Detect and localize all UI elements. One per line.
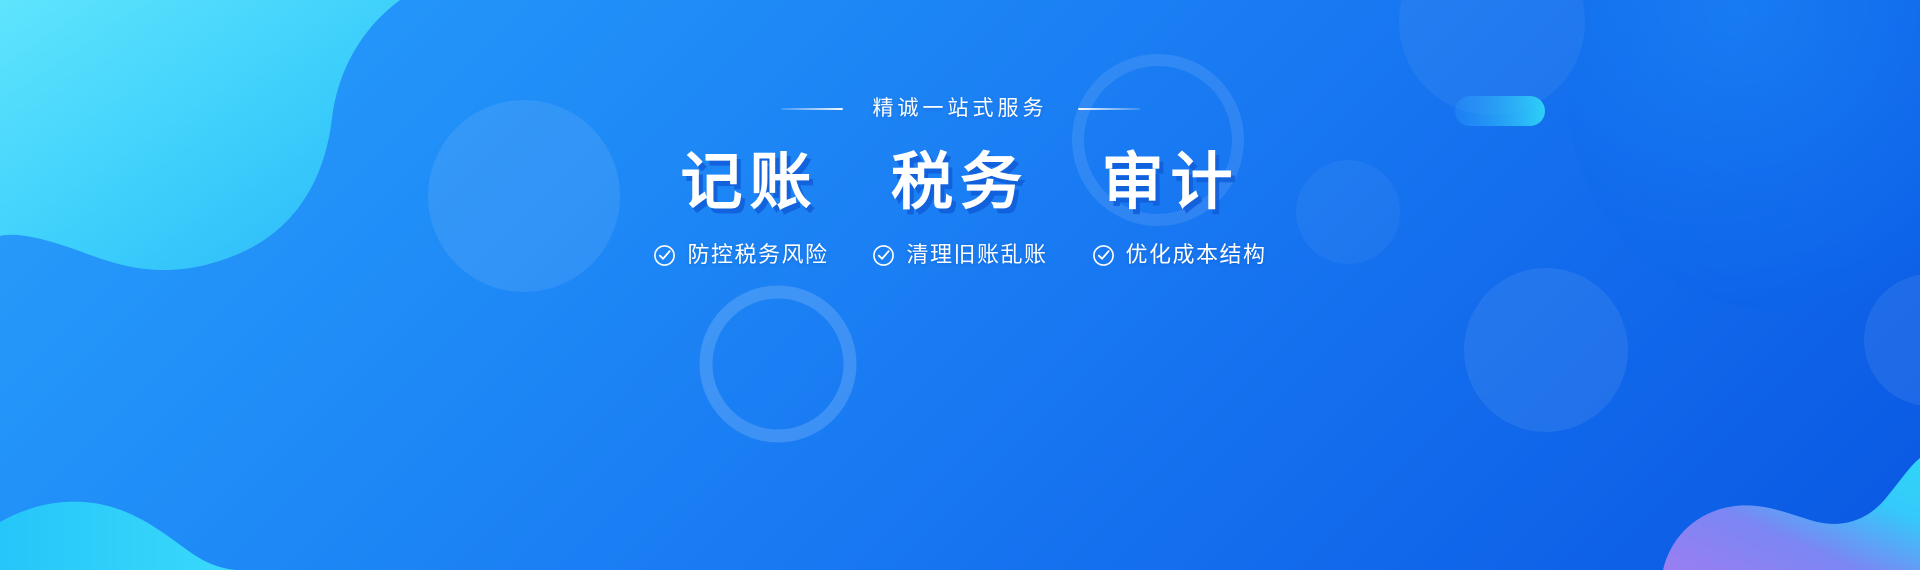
tagline-dash-left (781, 108, 843, 110)
tagline-dash-right (1078, 108, 1140, 110)
feature-label-3: 优化成本结构 (1126, 242, 1267, 268)
feature-label-2: 清理旧账乱账 (906, 242, 1047, 268)
check-circle-icon (653, 244, 676, 267)
headline-word-1: 记账 (681, 148, 819, 217)
feature-label-1: 防控税务风险 (687, 242, 828, 268)
feature-list: 防控税务风险 清理旧账乱账 优化成本结构 (653, 242, 1266, 268)
page-title: 记账 税务 审计 (681, 142, 1240, 224)
banner-content: 精诚一站式服务 记账 税务 审计 防控税务风险 (0, 0, 1920, 570)
promo-banner: 精诚一站式服务 记账 税务 审计 防控税务风险 (0, 0, 1920, 570)
tagline-text: 精诚一站式服务 (873, 96, 1048, 122)
headline-word-2: 税务 (891, 148, 1029, 217)
check-circle-icon (872, 244, 895, 267)
feature-item-2: 清理旧账乱账 (872, 242, 1047, 268)
headline-word-3: 审计 (1101, 148, 1239, 217)
feature-item-3: 优化成本结构 (1092, 242, 1267, 268)
tagline-row: 精诚一站式服务 (781, 96, 1140, 122)
check-circle-icon (1092, 244, 1115, 267)
feature-item-1: 防控税务风险 (653, 242, 828, 268)
